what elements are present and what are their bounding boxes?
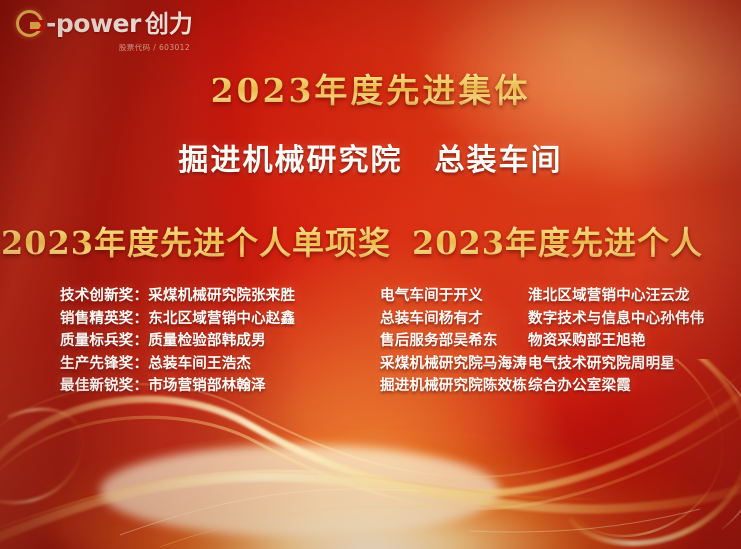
- brand-name-en: -power: [46, 11, 141, 36]
- list-item: 最佳新锐奖：市场营销部林翰泽: [60, 375, 370, 398]
- winner-name-a: 总装车间杨有才: [380, 308, 528, 331]
- list-item: 售后服务部吴希东 物资采购部王旭艳: [380, 330, 741, 353]
- list-item: 销售精英奖：东北区域营销中心赵鑫: [60, 308, 370, 331]
- winner-name-b: 数字技术与信息中心孙伟伟: [528, 308, 704, 331]
- winner-name-b: 电气技术研究院周明星: [528, 353, 675, 376]
- special-award-list: 技术创新奖：采煤机械研究院张来胜 销售精英奖：东北区域营销中心赵鑫 质量标兵奖：…: [0, 285, 370, 398]
- collective-winners-subtitle: 掘进机械研究院 总装车间: [0, 135, 741, 179]
- award-poster: -power 创力 股票代码 / 603012 2023年度先进集体 掘进机械研…: [0, 0, 741, 549]
- advanced-individual-list: 电气车间于开义 淮北区域营销中心汪云龙 总装车间杨有才 数字技术与信息中心孙伟伟…: [370, 285, 741, 398]
- list-item: 质量标兵奖：质量检验部韩成男: [60, 330, 370, 353]
- list-item: 总装车间杨有才 数字技术与信息中心孙伟伟: [380, 308, 741, 331]
- heading-advanced-individuals: 2023年度先进个人: [392, 218, 741, 264]
- winner-name-b: 物资采购部王旭艳: [528, 330, 646, 353]
- winner-name-a: 采煤机械研究院马海涛: [380, 353, 528, 376]
- page-title: 2023年度先进集体: [0, 64, 741, 112]
- list-item: 掘进机械研究院陈效栋 综合办公室梁霞: [380, 375, 741, 398]
- winner-name-a: 电气车间于开义: [380, 285, 528, 308]
- award-headings-row: 2023年度先进个人单项奖 2023年度先进个人: [0, 218, 741, 264]
- list-item: 生产先锋奖：总装车间王浩杰: [60, 353, 370, 376]
- stock-code-label: 股票代码 / 603012: [16, 42, 226, 53]
- brand-logo[interactable]: -power 创力 股票代码 / 603012: [16, 10, 226, 53]
- winner-name-b: 淮北区域营销中心汪云龙: [528, 285, 690, 308]
- g-power-circle-icon: [16, 10, 43, 37]
- heading-individual-special-awards-label: 2023年度先进个人单项奖: [1, 218, 391, 264]
- list-item: 技术创新奖：采煤机械研究院张来胜: [60, 285, 370, 308]
- winner-name-a: 掘进机械研究院陈效栋: [380, 375, 528, 398]
- winner-name-b: 综合办公室梁霞: [528, 375, 631, 398]
- heading-advanced-individuals-label: 2023年度先进个人: [412, 218, 703, 264]
- winner-name-a: 售后服务部吴希东: [380, 330, 528, 353]
- list-item: 采煤机械研究院马海涛 电气技术研究院周明星: [380, 353, 741, 376]
- winners-columns: 技术创新奖：采煤机械研究院张来胜 销售精英奖：东北区域营销中心赵鑫 质量标兵奖：…: [0, 285, 741, 398]
- heading-individual-special-awards: 2023年度先进个人单项奖: [0, 218, 392, 264]
- list-item: 电气车间于开义 淮北区域营销中心汪云龙: [380, 285, 741, 308]
- brand-name-cn: 创力: [145, 12, 193, 36]
